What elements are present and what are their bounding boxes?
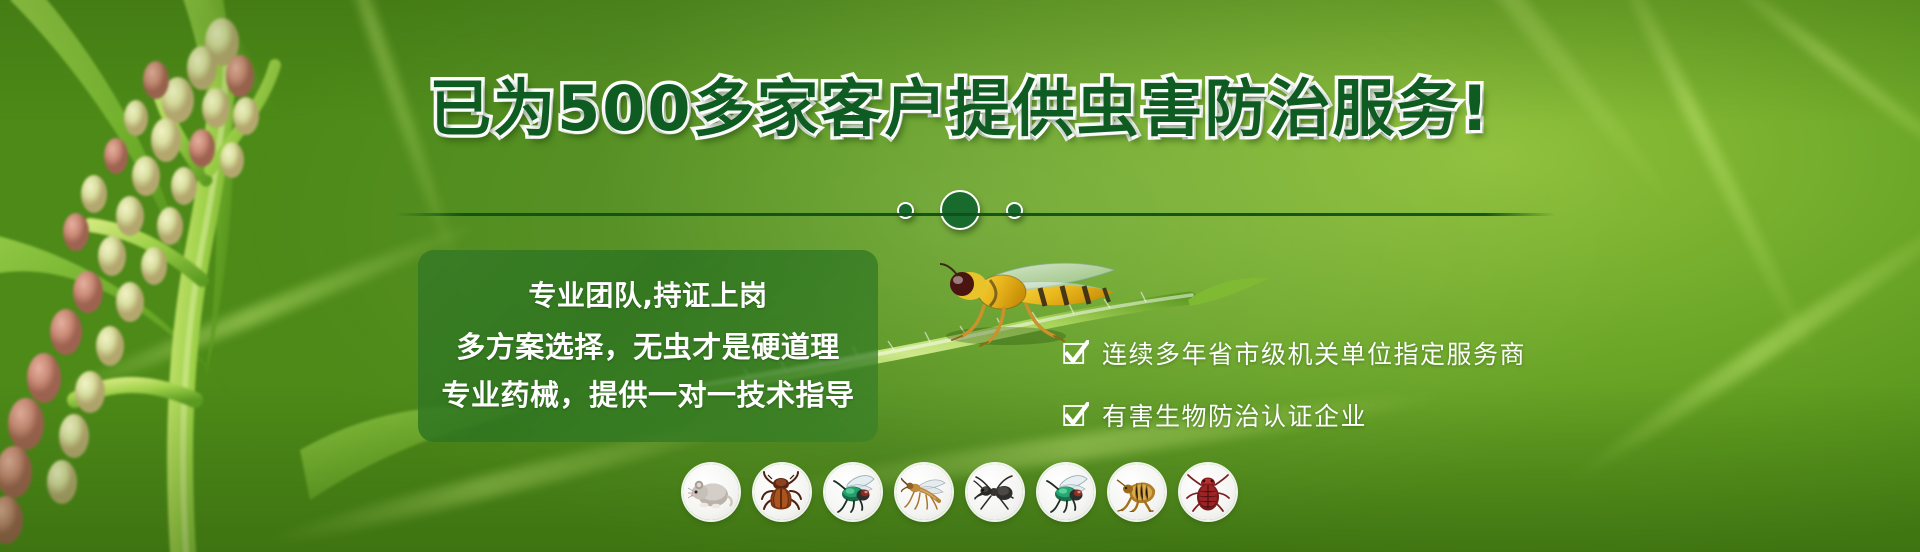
checkbox-checked-icon (1063, 340, 1089, 366)
decorative-dots (0, 190, 1920, 230)
flea-icon[interactable] (1109, 464, 1165, 520)
panel-line-2: 多方案选择，无虫才是硬道理 (456, 324, 840, 366)
ant-icon[interactable] (967, 464, 1023, 520)
feature-list: 连续多年省市级机关单位指定服务商 有害生物防治认证企业 (1063, 335, 1526, 433)
housefly-icon[interactable] (1038, 464, 1094, 520)
dot-large-center (940, 190, 980, 230)
promo-banner: 已为500多家客户提供虫害防治服务! (0, 0, 1920, 552)
selling-points-panel: 专业团队,持证上岗 多方案选择，无虫才是硬道理 专业药械，提供一对一技术指导 (418, 250, 878, 442)
checkbox-checked-icon (1063, 402, 1089, 428)
feature-item: 有害生物防治认证企业 (1063, 397, 1526, 433)
feature-label: 连续多年省市级机关单位指定服务商 (1102, 335, 1526, 371)
horizontal-divider-line (395, 213, 1555, 216)
panel-line-1: 专业团队,持证上岗 (528, 274, 767, 314)
cockroach-icon[interactable] (754, 464, 810, 520)
bedbug-icon[interactable] (1180, 464, 1236, 520)
rodent-icon[interactable] (683, 464, 739, 520)
mosquito-icon[interactable] (896, 464, 952, 520)
pest-icon-row (683, 464, 1236, 520)
blowfly-icon[interactable] (825, 464, 881, 520)
panel-line-3: 专业药械，提供一对一技术指导 (441, 372, 854, 414)
feature-item: 连续多年省市级机关单位指定服务商 (1063, 335, 1526, 371)
feature-label: 有害生物防治认证企业 (1102, 397, 1367, 433)
